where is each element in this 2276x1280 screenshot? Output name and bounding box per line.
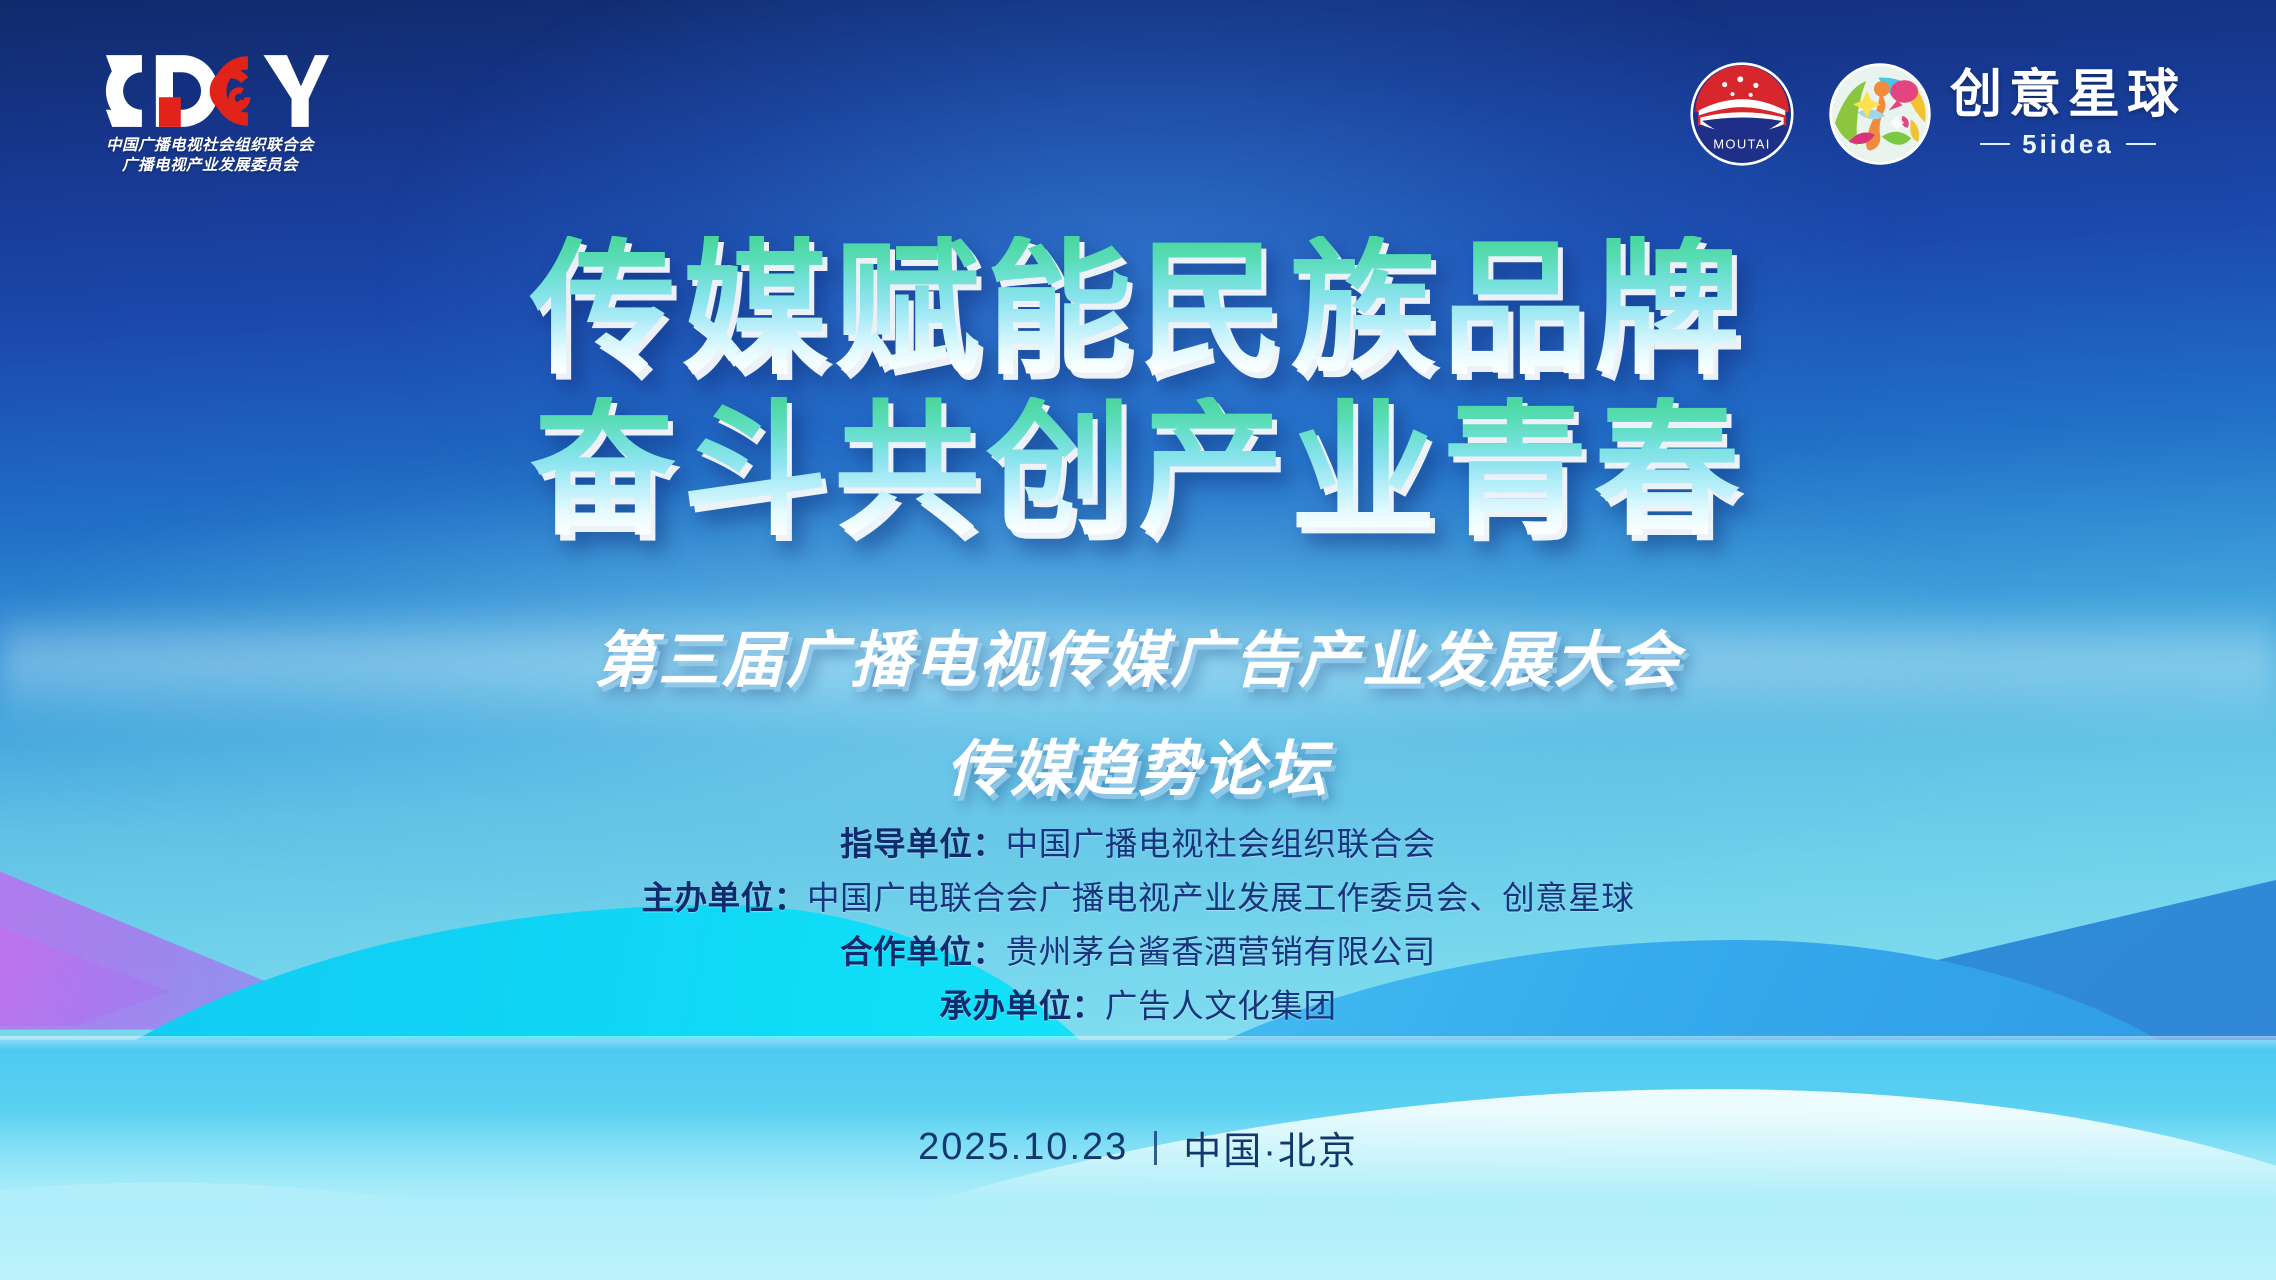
credit-label: 主办单位： [641,880,807,916]
dash-left-icon [1980,143,2010,145]
event-poster: 中国广播电视社会组织联合会 广播电视产业发展委员会 MOUTAI [0,0,2276,1280]
cdcy-org-name: 中国广播电视社会组织联合会 广播电视产业发展委员会 [95,136,325,176]
credit-label: 承办单位： [939,988,1105,1024]
svg-text:MOUTAI: MOUTAI [1713,137,1770,152]
credit-label: 合作单位： [840,934,1006,970]
moutai-logo-icon: MOUTAI [1690,62,1794,166]
5iidea-logo: 创意星球 5iidea [1828,62,2186,166]
footer-separator-icon [1154,1131,1157,1165]
cdcy-org-line-2: 广播电视产业发展委员会 [95,156,325,176]
5iidea-en-label: 5iidea [2022,129,2114,160]
water-band-edge [0,1036,2276,1050]
cdcy-logo: 中国广播电视社会组织联合会 广播电视产业发展委员会 [95,52,325,176]
5iidea-globe-icon [1828,62,1932,166]
subtitle-line-1: 第三届广播电视传媒广告产业发展大会 [0,610,2276,699]
credit-value: 广告人文化集团 [1105,988,1337,1024]
headline-line-1: 传媒赋能民族品牌 [0,236,2276,385]
credit-row: 承办单位：广告人文化集团 [0,980,2276,1034]
credits-block: 指导单位：中国广播电视社会组织联合会 主办单位：中国广电联合会广播电视产业发展工… [0,818,2276,1034]
credit-row: 主办单位：中国广电联合会广播电视产业发展工作委员会、创意星球 [0,872,2276,926]
partner-logos: MOUTAI 创意星球 [1690,62,2186,166]
dash-right-icon [2126,143,2156,145]
5iidea-wordmark: 创意星球 5iidea [1950,69,2186,160]
5iidea-en-text: 5iidea [1980,129,2156,160]
credit-row: 指导单位：中国广播电视社会组织联合会 [0,818,2276,872]
cdcy-org-line-1: 中国广播电视社会组织联合会 [95,136,325,156]
credit-row: 合作单位：贵州茅台酱香酒营销有限公司 [0,926,2276,980]
headline-line-2: 奋斗共创产业青春 [0,397,2276,546]
headline: 传媒赋能民族品牌 奋斗共创产业青春 [0,236,2276,546]
5iidea-cn-text: 创意星球 [1950,69,2186,121]
event-date: 2025.10.23 [918,1126,1128,1169]
subtitle: 第三届广播电视传媒广告产业发展大会 传媒趋势论坛 [0,610,2276,808]
event-location: 中国·北京 [1183,1120,1358,1175]
credit-value: 中国广播电视社会组织联合会 [1006,826,1436,862]
credit-value: 中国广电联合会广播电视产业发展工作委员会、创意星球 [807,880,1635,916]
credit-value: 贵州茅台酱香酒营销有限公司 [1006,934,1436,970]
credit-label: 指导单位： [840,826,1006,862]
cdcy-mark-icon [95,52,329,130]
subtitle-line-2: 传媒趋势论坛 [0,719,2276,808]
footer-meta: 2025.10.23 中国·北京 [0,1120,2276,1175]
